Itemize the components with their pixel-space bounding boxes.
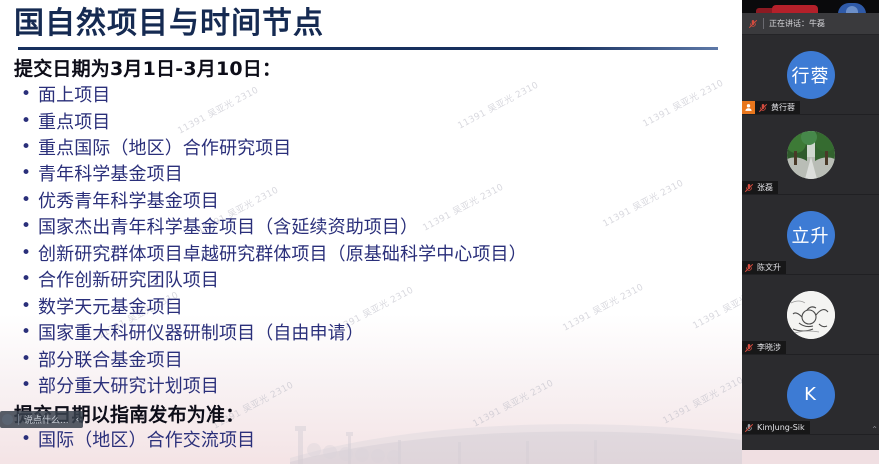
video-shape bbox=[846, 6, 858, 13]
participant-name: 陈文升 bbox=[757, 262, 781, 273]
list-item: 重点国际（地区）合作研究项目 bbox=[12, 136, 732, 162]
sidebar-footer bbox=[742, 450, 879, 464]
list-item: 创新研究群体项目卓越研究群体项目（原基础科学中心项目） bbox=[12, 242, 732, 268]
list-item: 国家重大科研仪器研制项目（自由申请） bbox=[12, 321, 732, 347]
slide-body: 提交日期为3月1日-3月10日： 面上项目 重点项目 重点国际（地区）合作研究项… bbox=[0, 50, 742, 454]
avatar-initials: 立升 bbox=[792, 222, 830, 248]
divider bbox=[763, 18, 764, 29]
list-item: 优秀青年科学基金项目 bbox=[12, 189, 732, 215]
participant-tile[interactable]: K KimJung-Sik bbox=[742, 355, 879, 435]
participant-name-tag: 李晓涉 bbox=[742, 341, 786, 354]
list-item: 部分重大研究计划项目 bbox=[12, 374, 732, 400]
project-list-fixed-window: 面上项目 重点项目 重点国际（地区）合作研究项目 青年科学基金项目 优秀青年科学… bbox=[12, 83, 732, 400]
screen-root: 11391 吴亚光 2310 11391 吴亚光 2310 11391 吴亚光 … bbox=[0, 0, 879, 464]
microphone-muted-icon bbox=[744, 263, 754, 273]
participant-name-tag: 黄行蓉 bbox=[742, 101, 800, 114]
microphone-muted-icon bbox=[744, 343, 754, 353]
participant-list[interactable]: 行蓉 bbox=[742, 35, 879, 450]
page-title: 国自然项目与时间节点 bbox=[14, 6, 728, 41]
avatar-initials: K bbox=[804, 384, 817, 405]
participant-tile[interactable]: 行蓉 bbox=[742, 35, 879, 115]
avatar: K bbox=[787, 371, 835, 419]
divider bbox=[18, 414, 19, 425]
participant-tile[interactable]: 李晓涉 bbox=[742, 275, 879, 355]
project-list-guideline: 国际（地区）合作交流项目 bbox=[12, 428, 732, 454]
sidebar-header: 正在讲话：牛磊 bbox=[742, 13, 879, 35]
scroll-indicator-icon[interactable]: ⌃ bbox=[871, 425, 878, 434]
partial-video-strip bbox=[742, 0, 879, 13]
participant-tile[interactable]: 张磊 bbox=[742, 115, 879, 195]
participant-name: 李晓涉 bbox=[757, 342, 781, 353]
chat-avatar-icon bbox=[2, 414, 13, 425]
list-item: 青年科学基金项目 bbox=[12, 162, 732, 188]
participant-name-tag: KimJung-Sik bbox=[742, 421, 810, 434]
participant-name: 黄行蓉 bbox=[771, 102, 795, 113]
avatar bbox=[787, 291, 835, 339]
presentation-slide: 11391 吴亚光 2310 11391 吴亚光 2310 11391 吴亚光 … bbox=[0, 0, 742, 464]
list-item: 面上项目 bbox=[12, 83, 732, 109]
microphone-muted-icon bbox=[758, 103, 768, 113]
avatar bbox=[787, 131, 835, 179]
list-item: 国家杰出青年科学基金项目（含延续资助项目） bbox=[12, 215, 732, 241]
participant-tile[interactable]: 立升 陈文升 bbox=[742, 195, 879, 275]
microphone-muted-icon bbox=[748, 19, 758, 29]
avatar: 行蓉 bbox=[787, 51, 835, 99]
list-item: 国际（地区）合作交流项目 bbox=[12, 428, 732, 454]
chevron-left-icon[interactable]: ‹ bbox=[74, 415, 80, 425]
list-item: 部分联合基金项目 bbox=[12, 348, 732, 374]
section-heading-guideline-dates: 提交日期以指南发布为准： bbox=[14, 403, 732, 428]
video-shape bbox=[772, 5, 818, 13]
video-conference-sidebar: 正在讲话：牛磊 行蓉 bbox=[742, 0, 879, 464]
host-badge-icon bbox=[742, 101, 755, 114]
participant-name: KimJung-Sik bbox=[757, 423, 805, 432]
participant-name-tag: 张磊 bbox=[742, 181, 778, 194]
microphone-muted-icon bbox=[744, 183, 754, 193]
avatar-initials: 行蓉 bbox=[792, 62, 830, 88]
list-item: 数学天元基金项目 bbox=[12, 295, 732, 321]
section-heading-submission-dates: 提交日期为3月1日-3月10日： bbox=[14, 57, 732, 82]
participant-name: 张磊 bbox=[757, 182, 773, 193]
microphone-muted-icon bbox=[744, 423, 754, 433]
list-item: 重点项目 bbox=[12, 110, 732, 136]
chat-input-placeholder[interactable]: 说点什么... bbox=[24, 413, 69, 426]
list-item: 合作创新研究团队项目 bbox=[12, 268, 732, 294]
chat-input-overlay[interactable]: 说点什么... ‹ bbox=[0, 411, 83, 428]
slide-title-block: 国自然项目与时间节点 bbox=[0, 0, 742, 50]
speaking-now-label: 正在讲话：牛磊 bbox=[769, 18, 825, 29]
avatar: 立升 bbox=[787, 211, 835, 259]
participant-name-tag: 陈文升 bbox=[742, 261, 786, 274]
